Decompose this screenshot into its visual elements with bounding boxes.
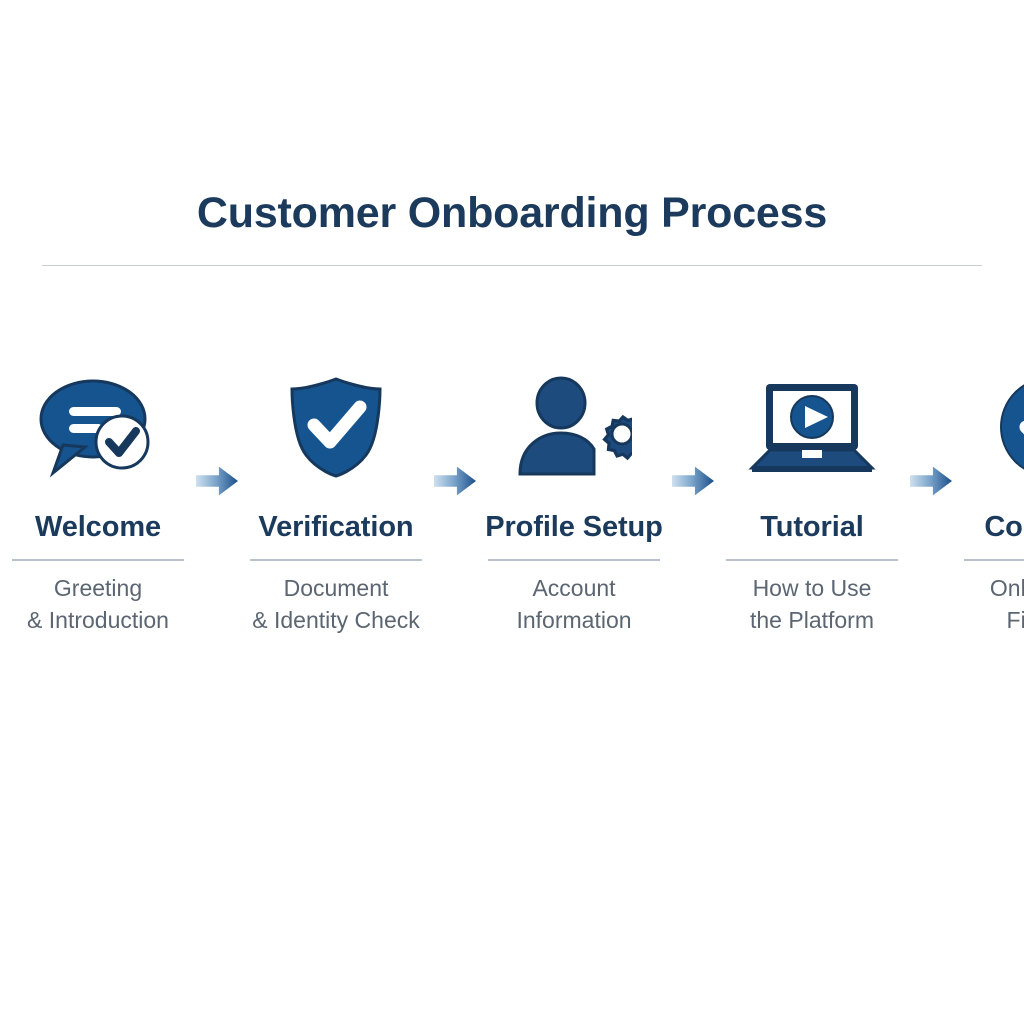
step-verification-description: Document & Identity Check bbox=[238, 573, 434, 636]
step-profile-setup-divider bbox=[488, 559, 660, 561]
laptop-play-icon bbox=[748, 378, 876, 476]
step-tutorial-icon-wrap bbox=[714, 372, 910, 482]
step-welcome-icon-wrap bbox=[0, 372, 196, 482]
step-verification-icon-wrap bbox=[238, 372, 434, 482]
process-steps-row: Welcome Greeting & Introduction bbox=[0, 372, 1024, 637]
step-profile-setup-description: Account Information bbox=[476, 573, 672, 636]
step-verification-label: Verification bbox=[238, 512, 434, 542]
step-complete-description-line2: Finished bbox=[952, 605, 1024, 637]
step-complete-description: Onboarding Finished bbox=[952, 573, 1024, 636]
step-welcome[interactable]: Welcome Greeting & Introduction bbox=[0, 372, 196, 637]
step-profile-setup-icon-wrap bbox=[476, 372, 672, 482]
step-verification-description-line1: Document bbox=[238, 573, 434, 605]
arrow-right-icon-3 bbox=[672, 426, 714, 536]
step-tutorial-description: How to Use the Platform bbox=[714, 573, 910, 636]
page-title-block: Customer Onboarding Process bbox=[0, 190, 1024, 237]
onboarding-infographic: Customer Onboarding Process bbox=[0, 0, 1024, 1024]
step-profile-setup-description-line1: Account bbox=[476, 573, 672, 605]
circle-check-icon bbox=[998, 375, 1024, 479]
arrow-right-icon-4 bbox=[910, 426, 952, 536]
step-tutorial[interactable]: Tutorial How to Use the Platform bbox=[714, 372, 910, 637]
step-welcome-divider bbox=[12, 559, 184, 561]
step-welcome-description-line1: Greeting bbox=[0, 573, 196, 605]
step-complete-icon-wrap bbox=[952, 372, 1024, 482]
step-profile-setup[interactable]: Profile Setup Account Information bbox=[476, 372, 672, 637]
step-welcome-label: Welcome bbox=[0, 512, 196, 542]
step-welcome-description: Greeting & Introduction bbox=[0, 573, 196, 636]
arrow-right-icon-2 bbox=[434, 426, 476, 536]
title-divider bbox=[42, 265, 982, 266]
step-tutorial-divider bbox=[726, 559, 898, 561]
step-complete-description-line1: Onboarding bbox=[952, 573, 1024, 605]
shield-check-icon bbox=[284, 375, 388, 479]
step-verification[interactable]: Verification Document & Identity Check bbox=[238, 372, 434, 637]
step-verification-description-line2: & Identity Check bbox=[238, 605, 434, 637]
step-verification-divider bbox=[250, 559, 422, 561]
step-tutorial-label: Tutorial bbox=[714, 512, 910, 542]
user-gear-icon bbox=[516, 375, 632, 479]
step-welcome-description-line2: & Introduction bbox=[0, 605, 196, 637]
arrow-right-icon-1 bbox=[196, 426, 238, 536]
step-complete-divider bbox=[964, 559, 1024, 561]
step-complete-label: Complete bbox=[952, 512, 1024, 542]
page-title: Customer Onboarding Process bbox=[0, 190, 1024, 237]
step-profile-setup-label: Profile Setup bbox=[476, 512, 672, 542]
speech-bubble-check-icon bbox=[33, 375, 163, 479]
step-tutorial-description-line1: How to Use bbox=[714, 573, 910, 605]
step-tutorial-description-line2: the Platform bbox=[714, 605, 910, 637]
step-profile-setup-description-line2: Information bbox=[476, 605, 672, 637]
step-complete[interactable]: Complete Onboarding Finished bbox=[952, 372, 1024, 637]
